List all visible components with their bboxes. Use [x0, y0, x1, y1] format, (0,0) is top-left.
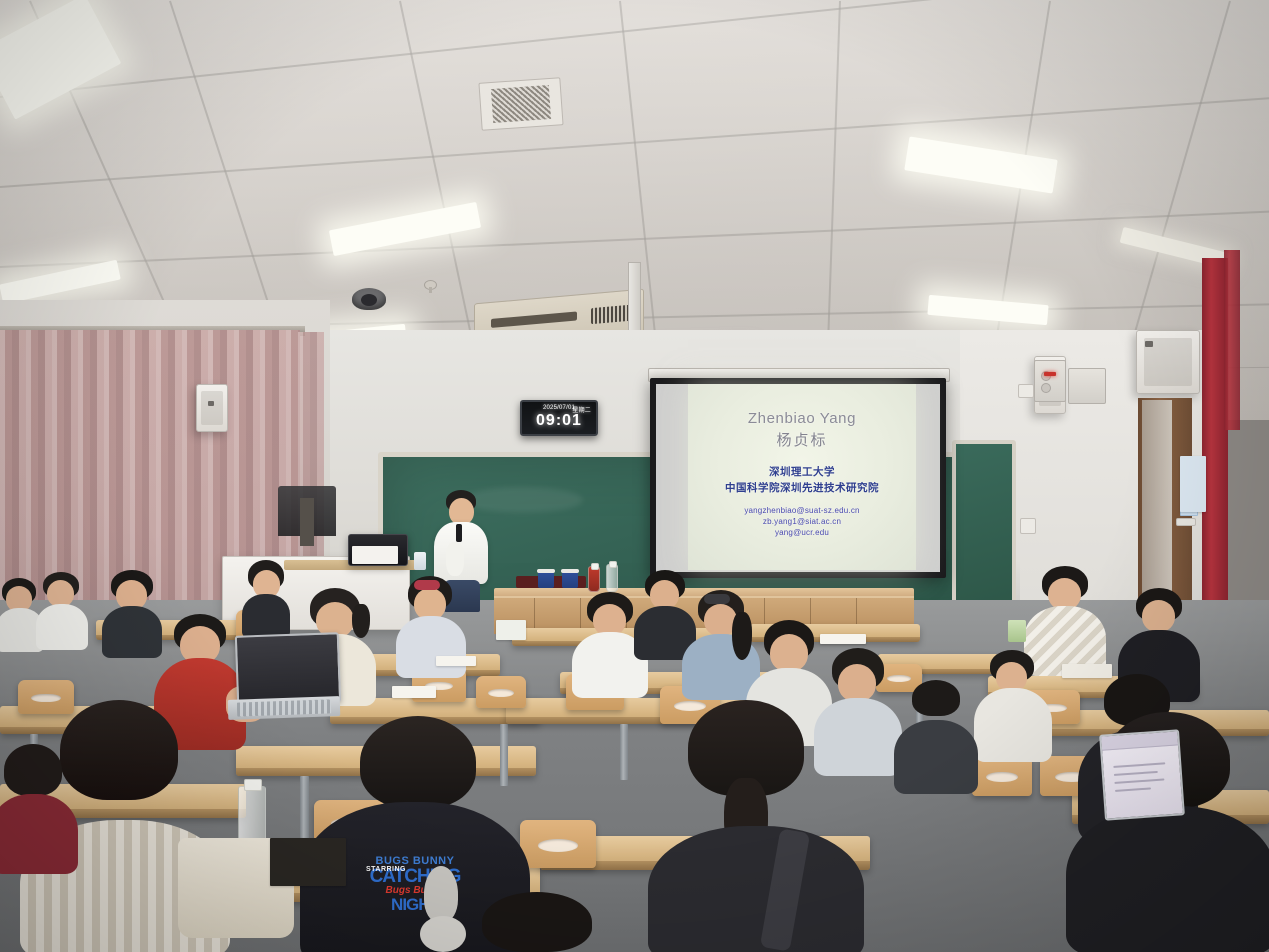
wall-speaker-right [1136, 330, 1200, 394]
tissue-box [496, 620, 526, 640]
projected-slide: Zhenbiao Yang 杨贞标 深圳理工大学 中国科学院深圳先进技术研究院 … [688, 384, 916, 570]
electrical-cabinet [1068, 368, 1106, 404]
wall-socket-plate [1020, 518, 1036, 534]
audience-member [0, 578, 40, 648]
student-laptop-screen[interactable] [235, 632, 341, 706]
security-camera-icon [352, 288, 386, 310]
bunny-face-graphic [420, 916, 466, 952]
digital-clock-display: 2025/07/01 星期二 09:01 [520, 400, 598, 436]
podium-cup [414, 552, 426, 570]
door-handle[interactable] [1176, 518, 1196, 526]
wall-speaker-left [196, 384, 228, 432]
stand-pole [300, 498, 314, 546]
student-laptop-document-screen[interactable] [1099, 729, 1185, 820]
sauce-bottle [588, 566, 600, 592]
paper-sheet [820, 634, 866, 644]
blue-cup [538, 572, 554, 588]
slide-name-chinese: 杨贞标 [688, 429, 916, 450]
plastic-water-bottle [238, 786, 266, 844]
desk-leg [620, 724, 628, 780]
audience-member [0, 744, 70, 864]
student-chair [476, 676, 526, 708]
presenter-arm [446, 542, 464, 576]
notebook [270, 838, 346, 886]
audience-member [578, 592, 640, 692]
tshirt-starring-text: STARRING [346, 866, 426, 873]
drink-cup [1008, 620, 1026, 642]
wall-poster [1180, 456, 1206, 512]
status-led-indicator [1044, 372, 1056, 376]
document-stack [1062, 664, 1112, 678]
podium-white-box [352, 546, 398, 564]
audience-member [900, 680, 970, 790]
hair-accessory [704, 594, 730, 604]
red-column-upper [1224, 250, 1240, 430]
slide-org-line-1: 深圳理工大学 [688, 464, 916, 479]
audience-member [982, 650, 1042, 758]
ceiling-air-vent [478, 77, 563, 131]
student-chair [972, 756, 1032, 796]
audience-member [688, 590, 752, 694]
paper-sheet [392, 686, 436, 698]
microphone [456, 524, 462, 542]
slide-org-line-2: 中国科学院深圳先进技术研究院 [688, 480, 916, 495]
slide-email-2: zb.yang1@siat.ac.cn [688, 517, 916, 526]
paper-sheet [436, 656, 476, 666]
audience-member [244, 560, 288, 632]
audience-member [106, 570, 158, 654]
bottle-cap [244, 779, 262, 791]
bunny-ears-graphic [424, 866, 458, 922]
audience-member [470, 892, 610, 952]
wall-control-panel[interactable] [1034, 360, 1066, 402]
slide-name-english: Zhenbiao Yang [688, 410, 916, 427]
wall-socket-plate [1018, 384, 1034, 398]
blue-cup [562, 572, 578, 588]
audience-member [638, 570, 690, 654]
sprinkler-head [424, 280, 437, 290]
slide-email-3: yang@ucr.edu [688, 528, 916, 537]
clock-time-text: 09:01 [522, 412, 596, 430]
audience-member-foreground [662, 700, 852, 952]
audience-member [40, 572, 84, 646]
hair-accessory [414, 580, 440, 590]
water-bottle [606, 564, 618, 592]
lecture-hall-photo: Zhenbiao Yang 杨贞标 深圳理工大学 中国科学院深圳先进技术研究院 … [0, 0, 1269, 952]
slide-email-1: yangzhenbiao@suat-sz.edu.cn [688, 506, 916, 515]
presenter-head [449, 498, 474, 525]
student-chair [520, 820, 596, 868]
